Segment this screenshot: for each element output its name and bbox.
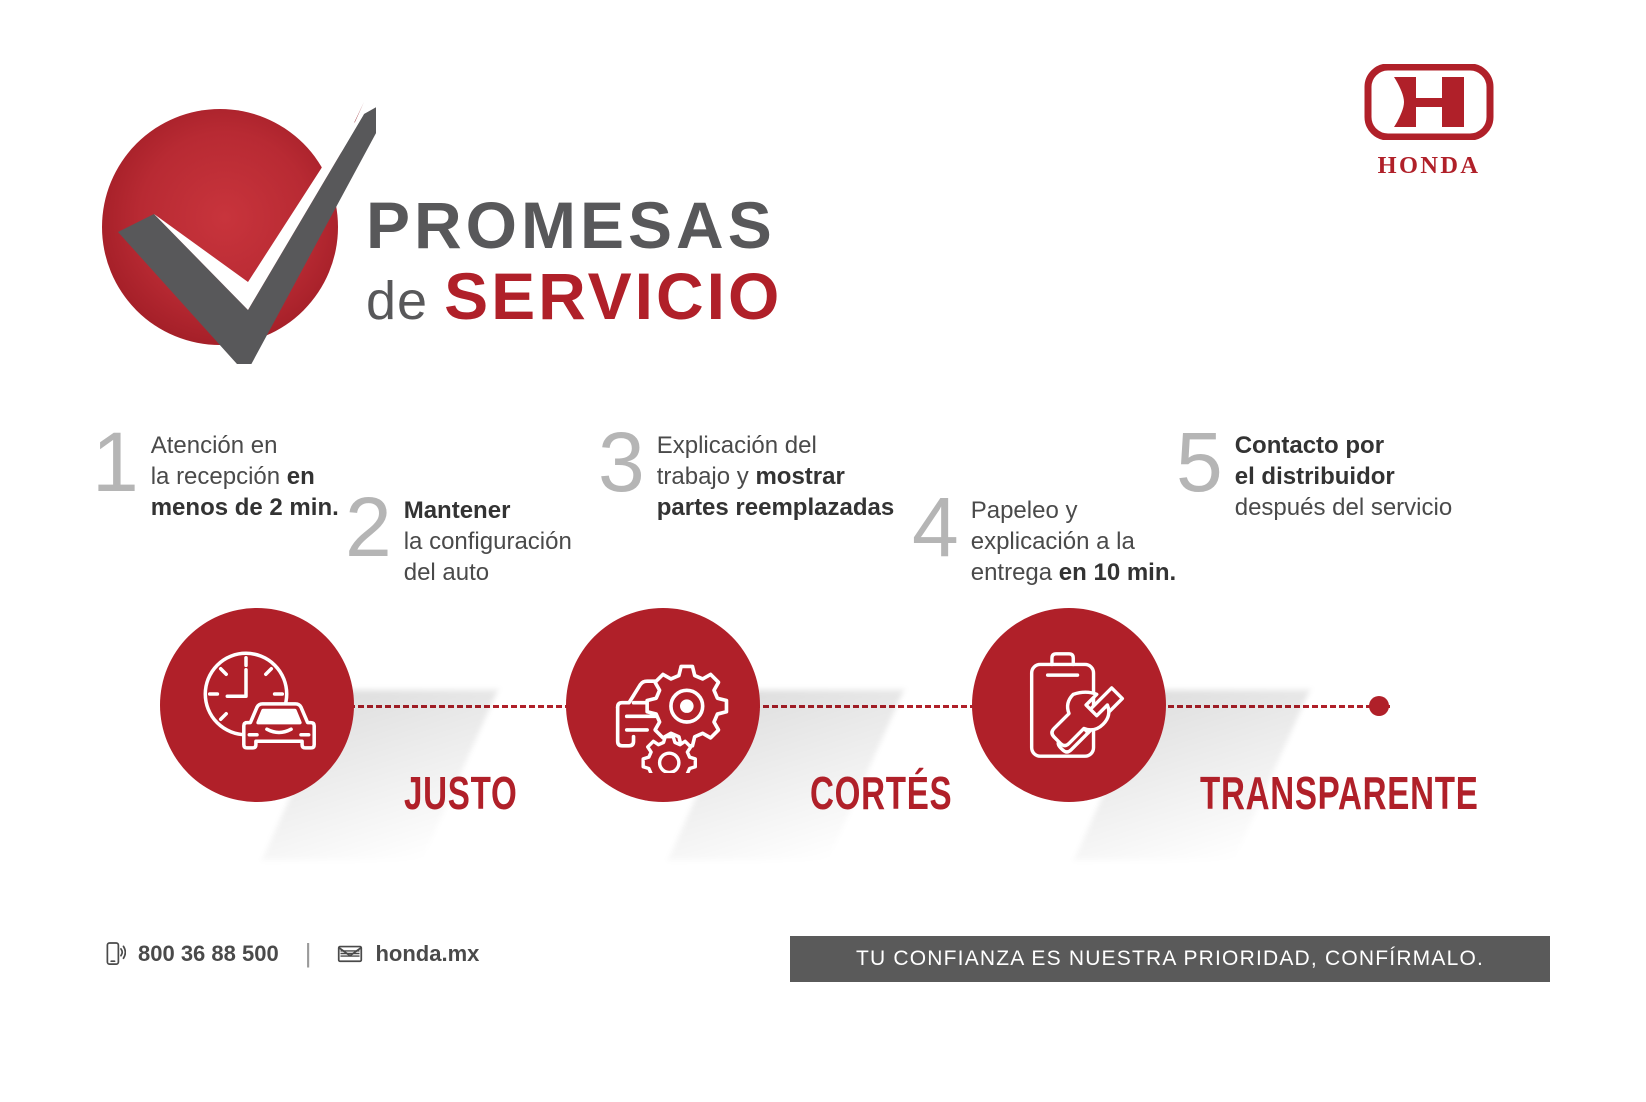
promise-text: Mantener la configuración del auto [404,495,572,589]
tagline-text: TU CONFIANZA ES NUESTRA PRIORIDAD, CONFÍ… [856,947,1484,971]
promise-line: Papeleo y [971,497,1078,524]
infographic-canvas: PROMESAS de SERVICIO HONDA 1 Atención en… [0,0,1646,1102]
promise-line: la recepción [151,463,287,490]
promise-line-bold: en 10 min. [1059,559,1176,586]
value-circle-cortes [566,608,760,802]
promise-item-4: 4 Papeleo y explicación a la entrega en … [912,495,1176,589]
promise-number: 1 [92,430,139,496]
promise-item-2: 2 Mantener la configuración del auto [345,495,572,589]
mobile-phone-icon [104,941,126,967]
promise-line-bold: en [287,463,315,490]
svg-text:HONDA: HONDA [1378,152,1481,179]
value-circle-transparente [972,608,1166,802]
promise-line-bold: mostrar [755,463,844,490]
promise-text: Contacto por el distribuidor después del… [1235,430,1452,524]
honda-h-emblem [1364,64,1494,140]
value-label-cortes: CORTÉS [810,766,952,820]
value-label-transparente: TRANSPARENTE [1200,766,1479,820]
footer: 800 36 88 500 | honda.mx TU CONFIANZA ES… [0,930,1646,1000]
promise-number: 4 [912,495,959,561]
promise-line-bold: menos de 2 min. [151,494,339,521]
promise-line: explicación a la [971,528,1135,555]
promise-line-bold: Contacto por [1235,432,1384,459]
honda-wordmark: HONDA [1364,151,1494,179]
title-de: de [366,271,444,331]
promise-number: 2 [345,495,392,561]
envelope-icon [337,943,363,964]
promise-number: 5 [1176,430,1223,496]
promise-line: trabajo y [657,463,756,490]
promise-text: Papeleo y explicación a la entrega en 10… [971,495,1176,589]
promise-text: Atención en la recepción en menos de 2 m… [151,430,339,524]
promise-item-5: 5 Contacto por el distribuidor después d… [1176,430,1452,524]
promise-text: Explicación del trabajo y mostrar partes… [657,430,894,524]
clipboard-wrench-screwdriver-icon [1005,641,1133,769]
value-label-justo: JUSTO [404,766,517,820]
tagline-bar: TU CONFIANZA ES NUESTRA PRIORIDAD, CONFÍ… [790,936,1550,982]
promise-line: entrega [971,559,1059,586]
footer-contact-group: 800 36 88 500 | honda.mx [104,938,479,969]
clock-car-icon [191,639,323,771]
promise-item-3: 3 Explicación del trabajo y mostrar part… [598,430,894,524]
promise-item-1: 1 Atención en la recepción en menos de 2… [92,430,339,524]
promise-line-bold: el distribuidor [1235,463,1395,490]
footer-separator: | [305,938,312,969]
title-servicio: SERVICIO [444,259,782,333]
timeline-end-dot [1369,696,1389,716]
car-gears-icon [595,637,731,773]
promise-line: Atención en [151,432,278,459]
promise-line-bold: partes reemplazadas [657,494,894,521]
promise-number: 3 [598,430,645,496]
title-promesas: PROMESAS [366,192,782,259]
website-url: honda.mx [375,941,479,967]
promise-line: la configuración [404,528,572,555]
phone-number: 800 36 88 500 [138,941,279,967]
promise-line: después del servicio [1235,494,1452,521]
phone-contact[interactable]: 800 36 88 500 [104,941,279,967]
honda-logo: HONDA [1364,64,1494,184]
promise-line: Explicación del [657,432,817,459]
page-title: PROMESAS de SERVICIO [366,192,782,331]
check-mark-circle-logo [96,96,376,364]
website-contact[interactable]: honda.mx [337,941,479,967]
value-circle-justo [160,608,354,802]
promise-line: del auto [404,559,489,586]
promise-line-bold: Mantener [404,497,511,524]
